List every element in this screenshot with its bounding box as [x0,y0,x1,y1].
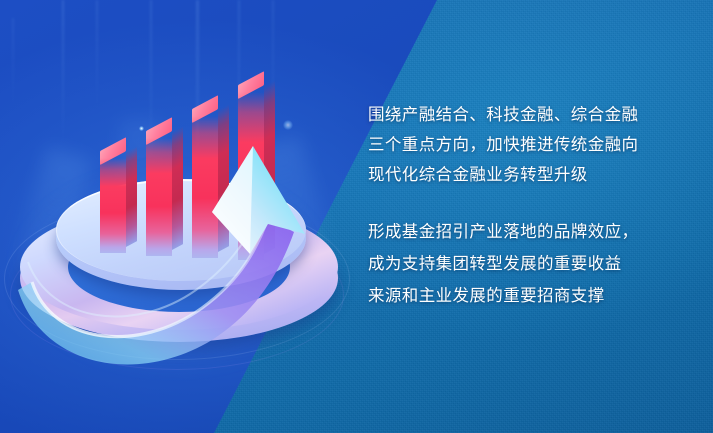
promo-banner: 围绕产融结合、科技金融、综合金融 三个重点方向，加快推进传统金融向 现代化综合金… [0,0,713,433]
growth-chart-illustration [6,86,346,386]
paragraph-one-line: 现代化综合金融业务转型升级 [368,160,688,190]
copy-column: 围绕产融结合、科技金融、综合金融 三个重点方向，加快推进传统金融向 现代化综合金… [368,100,688,312]
paragraph-two: 形成基金招引产业落地的品牌效应， 成为支持集团转型发展的重要收益 来源和主业发展… [368,216,688,312]
paragraph-two-line: 形成基金招引产业落地的品牌效应， [368,216,688,248]
paragraph-one-line: 三个重点方向，加快推进传统金融向 [368,130,688,160]
paragraph-one-line: 围绕产融结合、科技金融、综合金融 [368,100,688,130]
paragraph-two-line: 来源和主业发展的重要招商支撑 [368,280,688,312]
growth-arrow [6,86,346,386]
arrow-head-shade [212,146,253,254]
paragraph-two-line: 成为支持集团转型发展的重要收益 [368,248,688,280]
paragraph-one: 围绕产融结合、科技金融、综合金融 三个重点方向，加快推进传统金融向 现代化综合金… [368,100,688,190]
